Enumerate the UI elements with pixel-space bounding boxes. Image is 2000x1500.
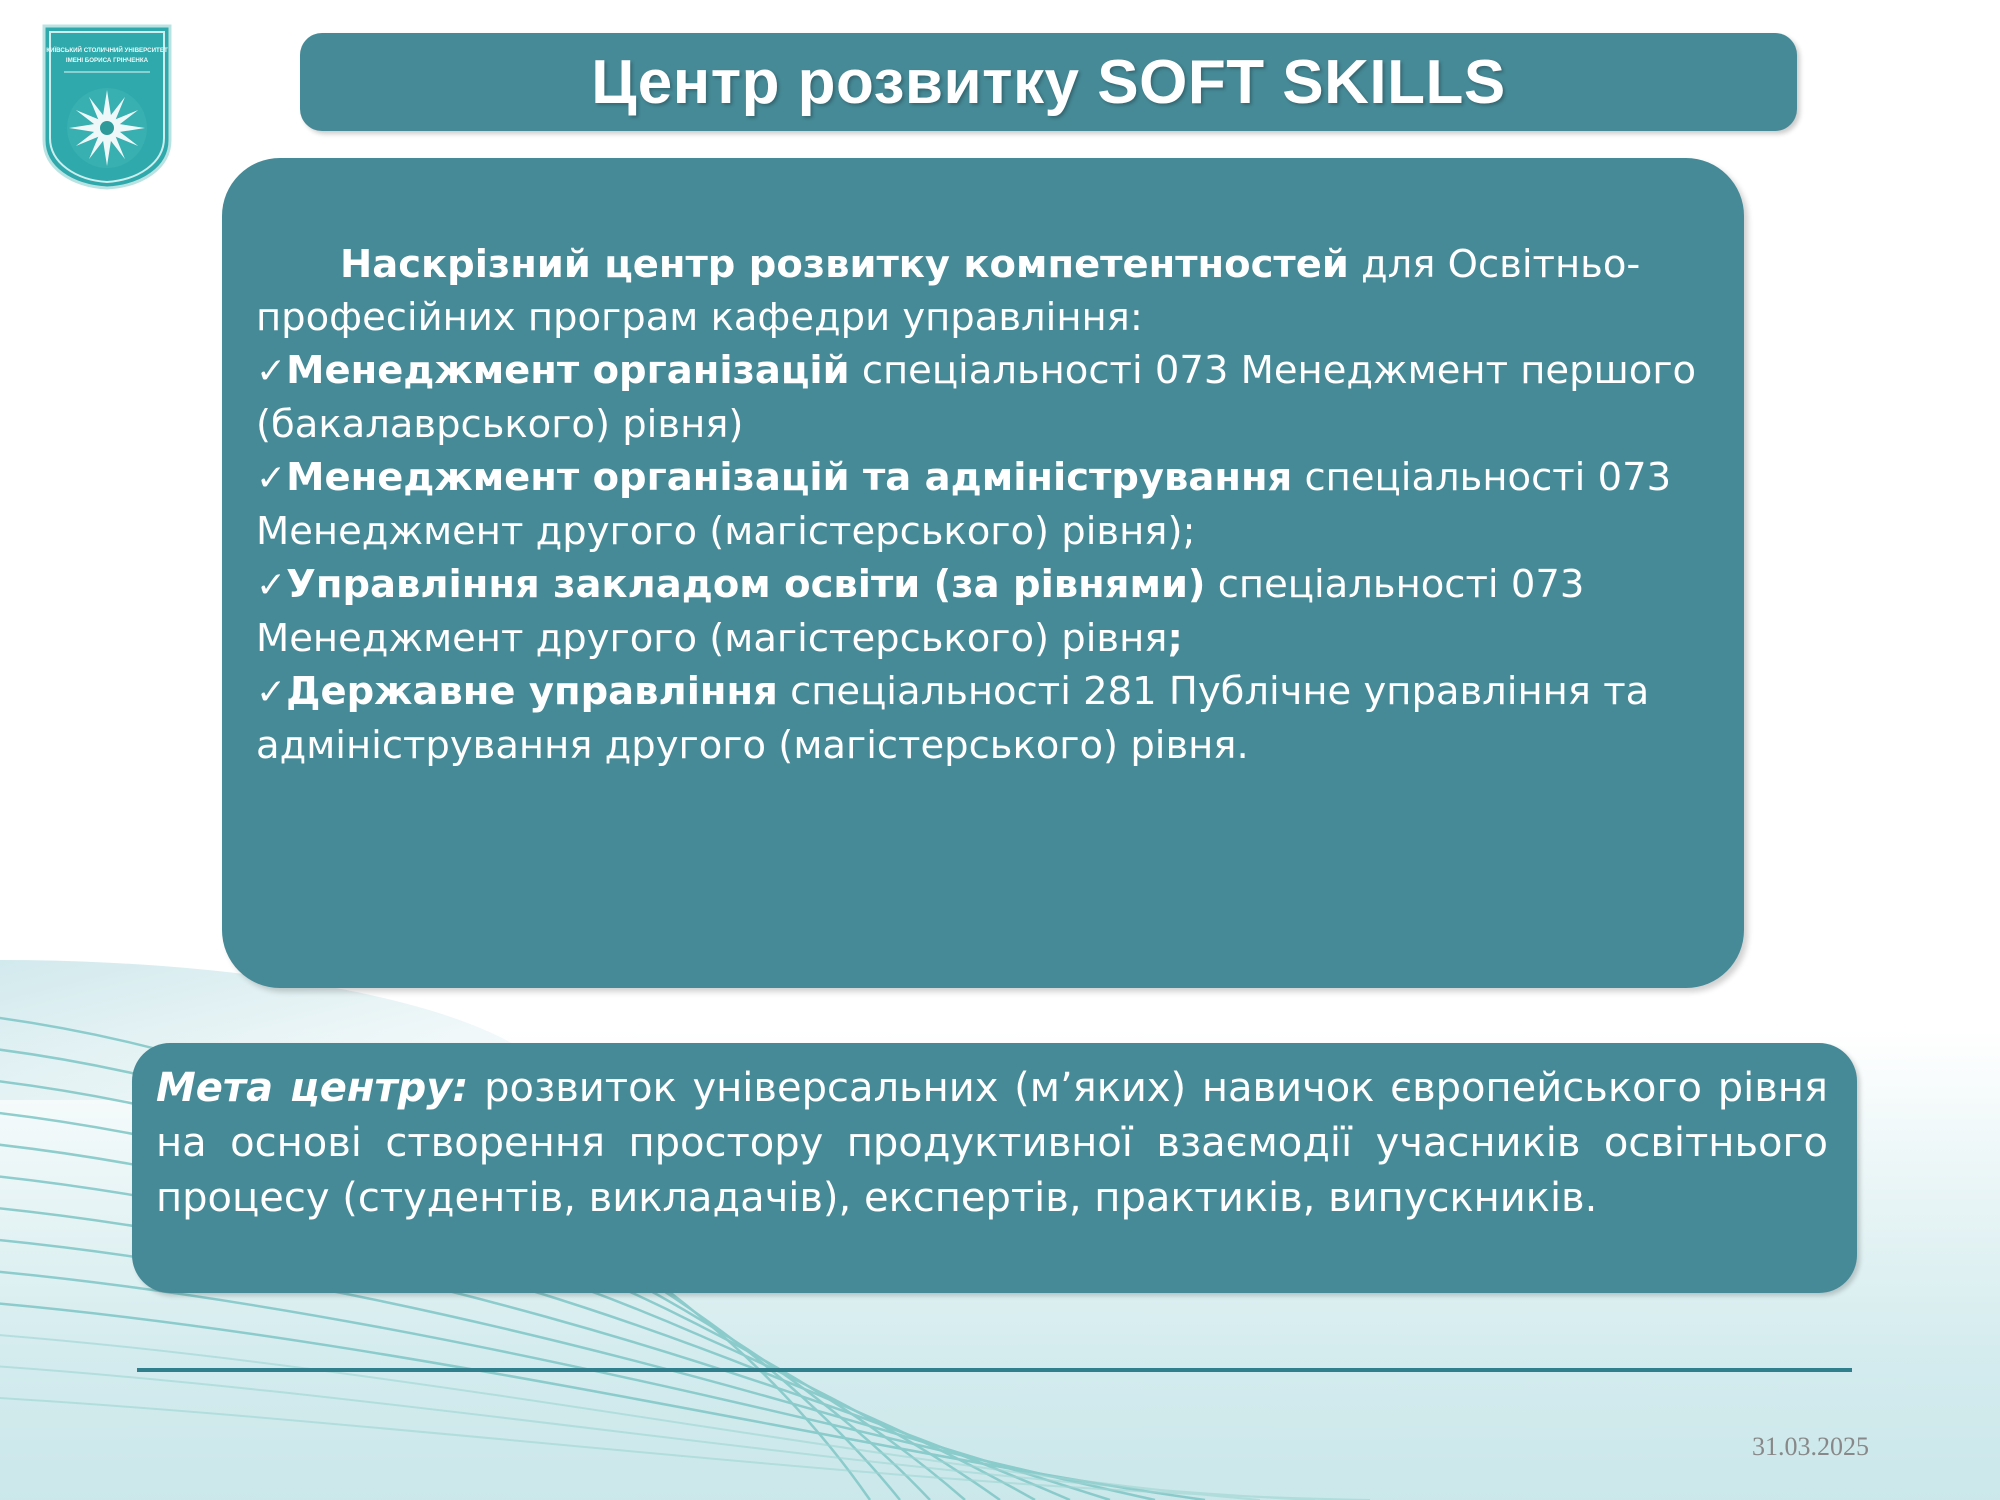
check-icon: ✓ [256,672,286,713]
check-icon: ✓ [256,351,286,392]
logo-starburst-icon [67,88,147,168]
bullet-program-name: Менеджмент організацій [286,348,849,393]
bullet-program-tail: ; [1167,616,1182,661]
university-logo: КИЇВСЬКИЙ СТОЛИЧНИЙ УНІВЕРСИТЕТ ІМЕНІ БО… [38,22,176,192]
check-icon: ✓ [256,458,286,499]
body-bullet-item: ✓Менеджмент організацій та адмініструван… [256,451,1711,558]
bullet-program-name: Управління закладом освіти (за рівнями) [286,562,1205,607]
goal-text-block: Мета центру: розвиток універсальних (м’я… [156,1061,1828,1226]
slide-date: 31.03.2025 [1752,1432,1869,1462]
check-icon: ✓ [256,565,286,606]
logo-line1: КИЇВСЬКИЙ СТОЛИЧНИЙ УНІВЕРСИТЕТ [46,46,168,54]
goal-panel: Мета центру: розвиток універсальних (м’я… [132,1043,1857,1293]
goal-label: Мета центру: [156,1065,468,1111]
body-intro-paragraph: Наскрізний центр розвитку компетентносте… [256,238,1711,344]
logo-line2: ІМЕНІ БОРИСА ГРІНЧЕНКА [66,57,149,64]
body-bullet-item: ✓Державне управління спеціальності 281 П… [256,665,1711,772]
body-text-block: Наскрізний центр розвитку компетентносте… [256,238,1711,772]
bullet-program-name: Менеджмент організацій та адмініструванн… [286,455,1292,500]
page-title: Центр розвитку SOFT SKILLS [591,47,1506,118]
footer-divider-rule [137,1368,1852,1372]
body-content-panel: Наскрізний центр розвитку компетентносте… [222,158,1744,988]
body-bullet-item: ✓Управління закладом освіти (за рівнями)… [256,558,1711,665]
slide-title-banner: Центр розвитку SOFT SKILLS [300,33,1797,131]
body-bullet-item: ✓Менеджмент організацій спеціальності 07… [256,344,1711,451]
goal-paragraph: Мета центру: розвиток універсальних (м’я… [156,1061,1828,1226]
bullet-program-name: Державне управління [286,669,778,714]
body-intro-bold: Наскрізний центр розвитку компетентносте… [340,242,1349,287]
